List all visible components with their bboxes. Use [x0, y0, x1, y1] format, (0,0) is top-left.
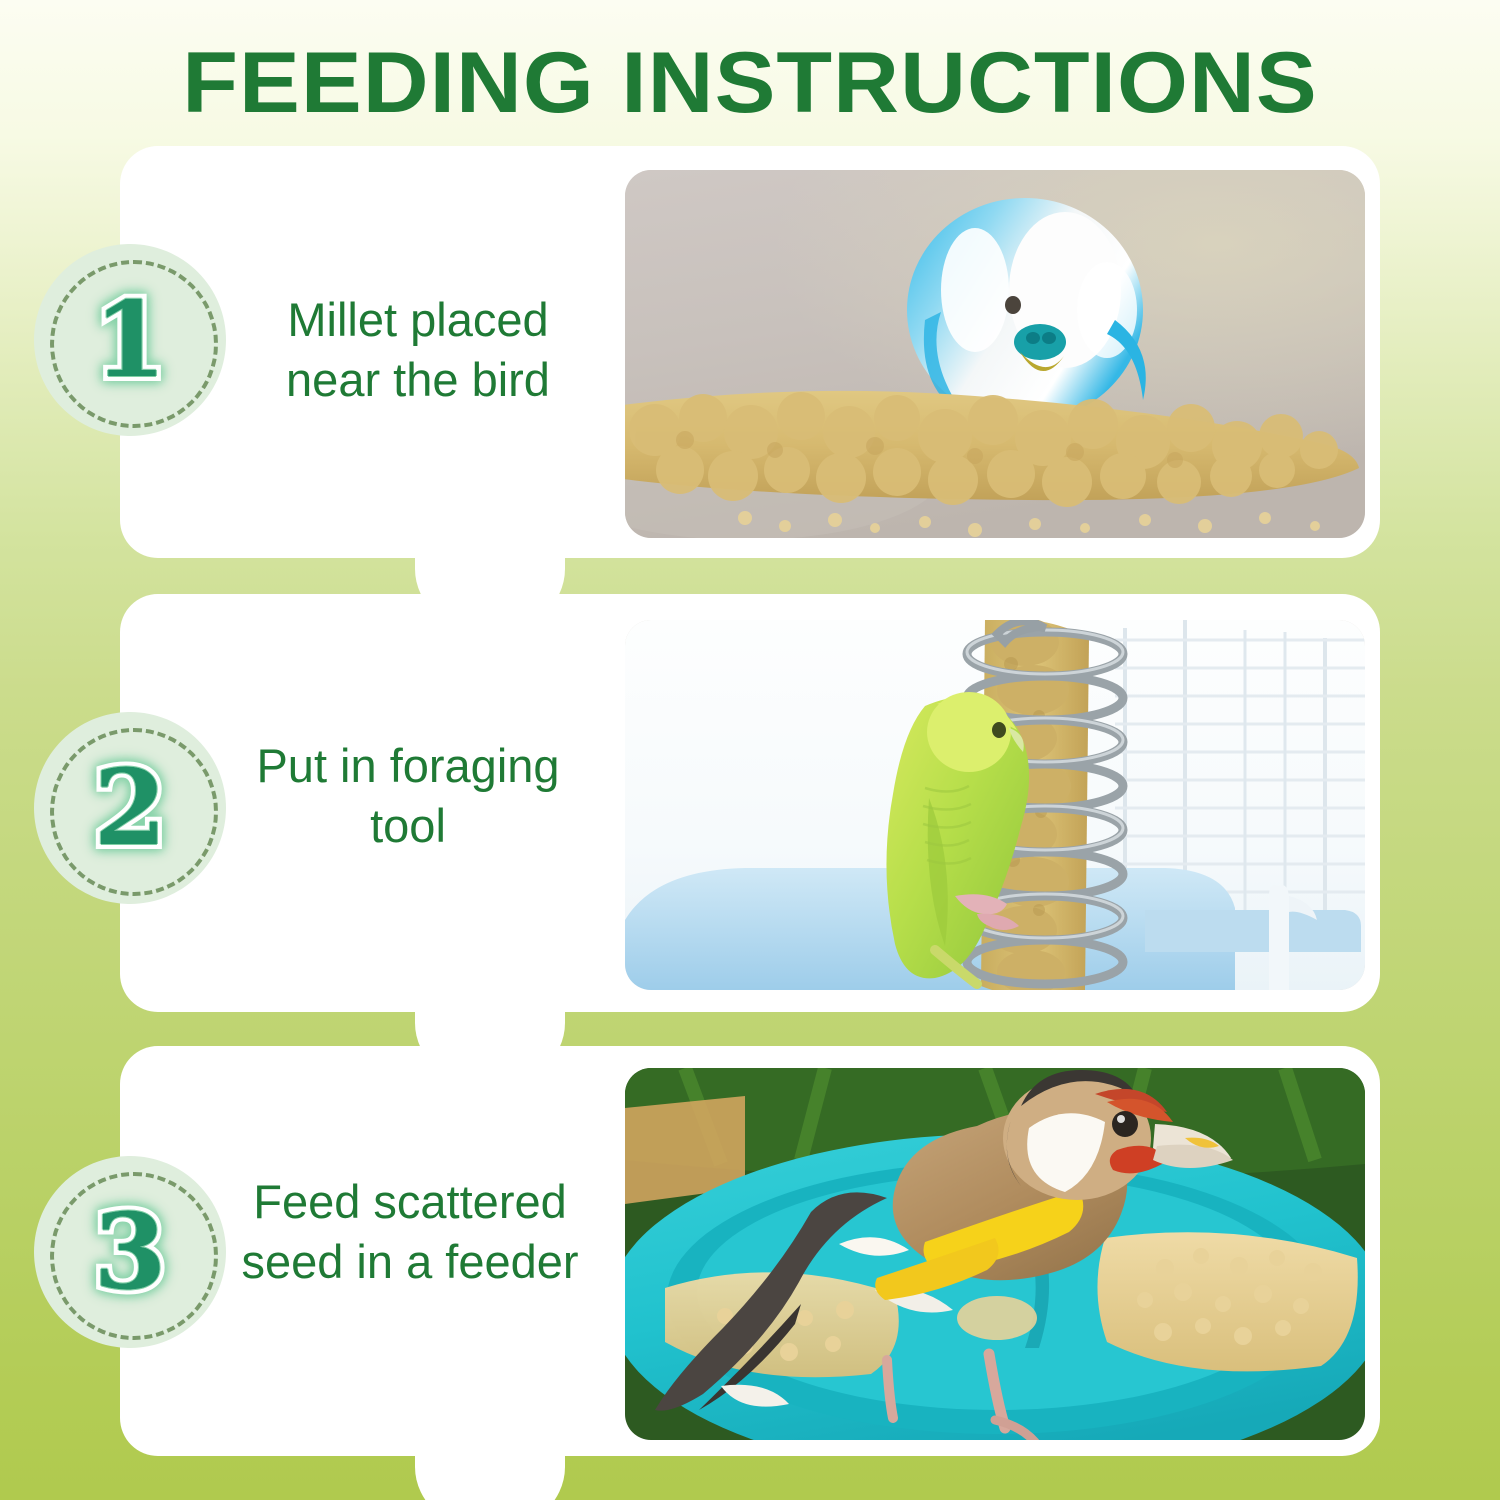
step-number-1: 1: [94, 288, 166, 392]
step-number-2: 2: [94, 756, 166, 860]
step-badge-3: 3: [34, 1156, 226, 1348]
step-label-1: Millet placed near the bird: [243, 290, 593, 410]
step-label-2: Put in foraging tool: [233, 736, 583, 856]
step-label-2-line1: Put in foraging: [233, 736, 583, 796]
photo-budgie-eating-millet-spray: [625, 170, 1365, 538]
photo-goldfinch-on-turquoise-feeder: [625, 1068, 1365, 1440]
step-label-1-line2: near the bird: [243, 350, 593, 410]
photo-2-illustration: [625, 620, 1365, 990]
page-title: FEEDING INSTRUCTIONS: [0, 34, 1500, 133]
step-label-2-line2: tool: [233, 796, 583, 856]
photo-3-illustration: [625, 1068, 1365, 1440]
step-badge-2: 2: [34, 712, 226, 904]
step-badge-1: 1: [34, 244, 226, 436]
step-label-3-line1: Feed scattered: [210, 1172, 610, 1232]
step-label-1-line1: Millet placed: [243, 290, 593, 350]
photo-budgie-on-spiral-foraging-tool: [625, 620, 1365, 990]
step-number-3: 3: [94, 1200, 166, 1304]
infographic-stage: FEEDING INSTRUCTIONS: [0, 0, 1500, 1500]
photo-1-illustration: [625, 170, 1365, 538]
step-label-3: Feed scattered seed in a feeder: [210, 1172, 610, 1292]
step-label-3-line2: seed in a feeder: [210, 1232, 610, 1292]
speech-bubble-tail-3: [415, 1454, 565, 1500]
